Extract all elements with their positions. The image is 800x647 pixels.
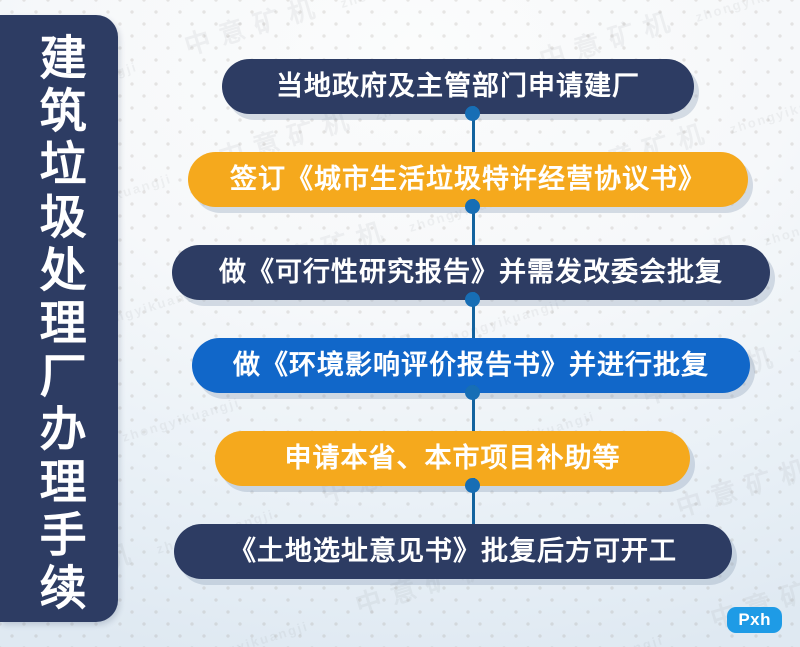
- flow-step-label: 申请本省、本市项目补助等: [285, 445, 621, 472]
- flow-step-label: 做《环境影响评价报告书》并进行批复: [233, 352, 709, 379]
- flow-step-label: 《土地选址意见书》批复后方可开工: [229, 538, 677, 565]
- connector-dot-3: [465, 292, 480, 307]
- flow-step-1[interactable]: 当地政府及主管部门申请建厂: [222, 59, 694, 114]
- connector-dot-4: [465, 385, 480, 400]
- flow-step-6[interactable]: 《土地选址意见书》批复后方可开工: [174, 524, 732, 579]
- watermark-row: 中意矿机 zhongyikuangji 中意矿机 zhongyikuangji …: [19, 382, 800, 647]
- flow-step-5[interactable]: 申请本省、本市项目补助等: [215, 431, 690, 486]
- flow-step-2[interactable]: 签订《城市生活垃圾特许经营协议书》: [188, 152, 748, 207]
- connector-dot-1: [465, 106, 480, 121]
- watermark-row: 中意矿机 zhongyikuangji 中意矿机 zhongyikuangji …: [87, 605, 800, 647]
- pxh-watermark-badge: Pxh: [727, 607, 782, 633]
- connector-dot-5: [465, 478, 480, 493]
- flow-step-label: 当地政府及主管部门申请建厂: [276, 73, 640, 100]
- infographic-canvas: 中意矿机 zhongyikuangji 中意矿机 zhongyikuangji …: [0, 0, 800, 647]
- connector-dot-2: [465, 199, 480, 214]
- flow-step-label: 做《可行性研究报告》并需发改委会批复: [219, 259, 723, 286]
- vertical-title-panel: 建筑垃圾处理厂办理手续: [0, 15, 118, 622]
- page-title: 建筑垃圾处理厂办理手续: [34, 33, 83, 616]
- flow-step-label: 签订《城市生活垃圾特许经营协议书》: [230, 166, 706, 193]
